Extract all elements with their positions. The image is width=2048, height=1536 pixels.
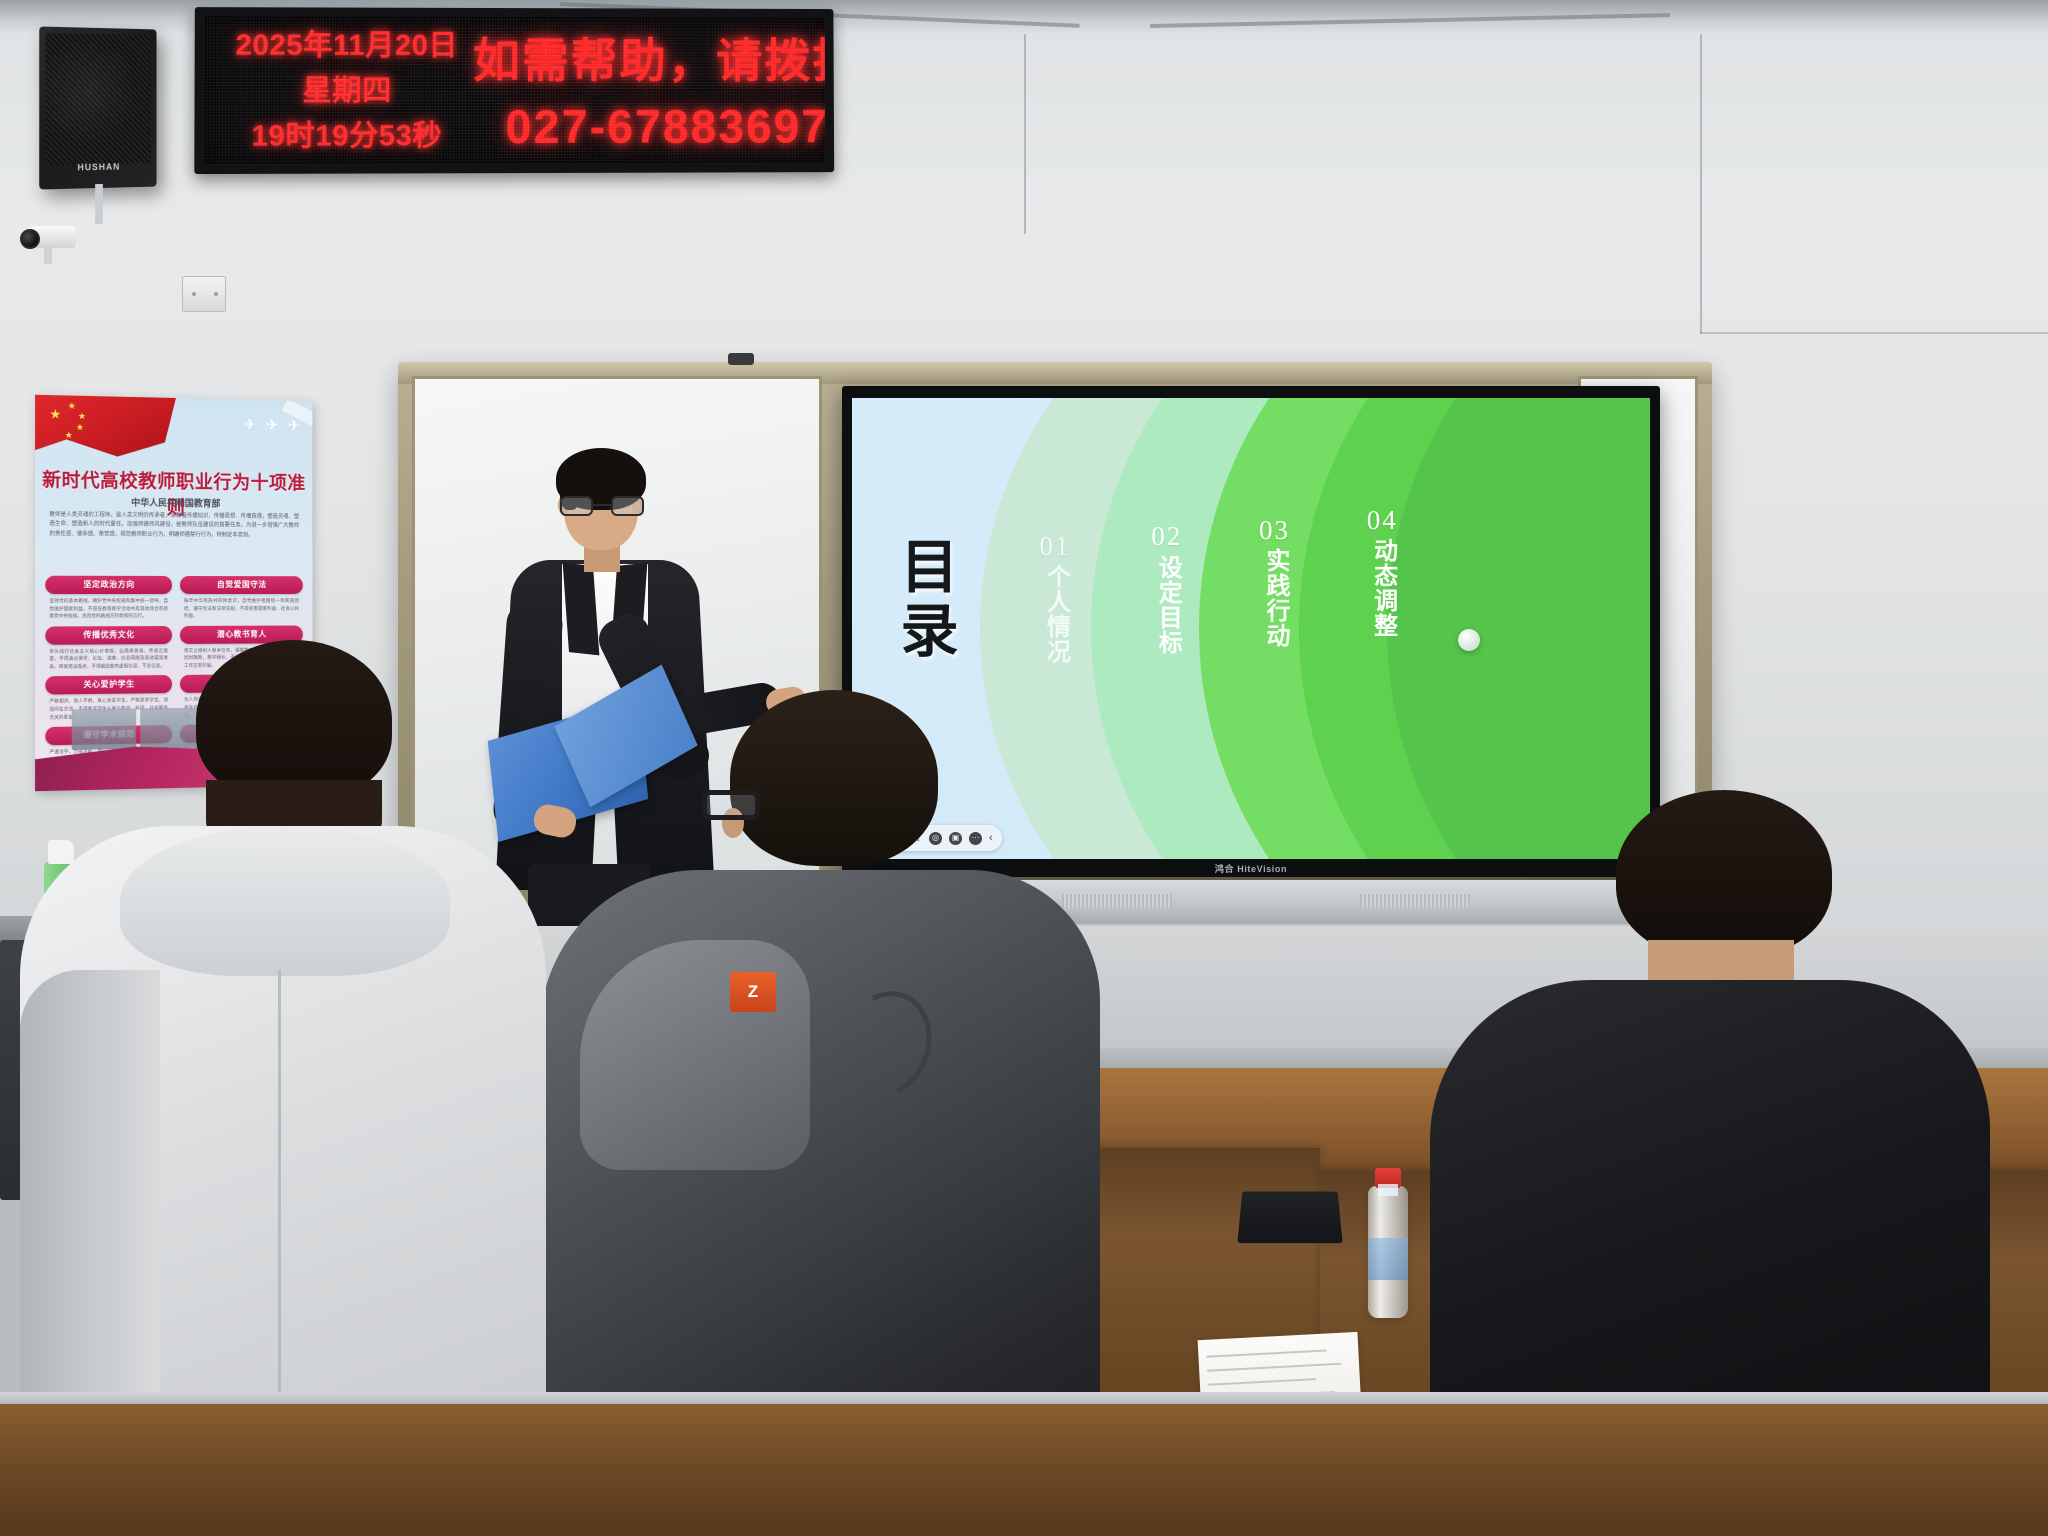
- camera-arm: [44, 246, 52, 264]
- wall-seam: [1700, 34, 1702, 334]
- wall-outlet-plate: [182, 276, 226, 312]
- water-bottle: [1368, 1186, 1408, 1318]
- poster-item-text: 铸牢中华民族共同体意识，自觉维护祖国统一和民族团结，遵守宪法和法律法规，不得损害…: [180, 597, 303, 620]
- poster-item: 坚定政治方向 坚持党的基本路线，拥护党中央权威和集中统一领导，自觉维护国家利益，…: [45, 576, 172, 620]
- toc-entry-1: 01 个人情况: [1040, 532, 1071, 669]
- led-message-line2: 027-67883697: [505, 98, 828, 153]
- toc-number: 03: [1259, 516, 1290, 544]
- frame-sensor: [728, 353, 754, 365]
- glasses-icon: [560, 496, 644, 516]
- camera-lens: [20, 229, 40, 249]
- front-desk: [0, 1404, 2048, 1536]
- speaker-grill: [45, 33, 151, 165]
- bottle-neck: [1378, 1184, 1398, 1196]
- poster-subtitle: 中华人民共和国教育部: [35, 494, 312, 510]
- slide-title: 目录: [895, 536, 952, 664]
- led-datetime-block: 2025年11月20日 星期四 19时19分53秒: [220, 21, 473, 154]
- toc-entry-3: 03 实践行动: [1259, 516, 1290, 653]
- slide-accent-dot: [1458, 629, 1480, 651]
- jacket-badge: Z: [730, 972, 776, 1012]
- toc-number: 04: [1367, 506, 1398, 534]
- wall-seam: [1024, 34, 1026, 234]
- china-flag-icon: ★ ★ ★ ★ ★: [35, 395, 176, 460]
- led-message-line1: 如需帮助，请拨打: [473, 21, 834, 90]
- person-hair: [730, 690, 938, 866]
- led-weekday: 星期四: [302, 66, 392, 108]
- poster-item-heading: 自觉爱国守法: [180, 576, 303, 594]
- security-camera-icon: [18, 222, 80, 262]
- person-hair: [196, 640, 392, 800]
- toc-label: 个人情况: [1043, 564, 1068, 664]
- led-message-block: 如需帮助，请拨打 027-67883697: [473, 21, 834, 153]
- led-information-sign: 2025年11月20日 星期四 19时19分53秒 如需帮助，请拨打 027-6…: [194, 7, 834, 174]
- speaker-brand: HUSHAN: [39, 161, 156, 173]
- led-date: 2025年11月20日: [236, 21, 458, 64]
- toc-entry-4: 04 动态调整: [1367, 506, 1398, 643]
- glasses-icon: [702, 790, 760, 820]
- toc-label: 动态调整: [1370, 538, 1395, 638]
- toc-entry-2: 02 设定目标: [1151, 522, 1182, 659]
- wall-seam: [1700, 332, 2048, 334]
- toc-number: 01: [1040, 532, 1071, 560]
- led-time: 19时19分53秒: [251, 112, 442, 155]
- classroom-scene: HUSHAN 2025年11月20日 星期四 19时19分53秒 如需帮助，请拨…: [0, 0, 2048, 1536]
- bottle-label: [1368, 1238, 1408, 1280]
- tablet-device[interactable]: [1237, 1192, 1342, 1244]
- dove-icons: ✈ ✈ ✈: [244, 415, 303, 434]
- poster-item-text: 坚持党的基本路线，拥护党中央权威和集中统一领导，自觉维护国家利益，不得在教育教学…: [45, 597, 172, 620]
- jacket-hood: [120, 826, 450, 976]
- poster-intro: 教师是人类灵魂的工程师，是人类文明的传承者，承载着传播知识、传播思想、传播真理，…: [49, 511, 299, 541]
- plate-screw: [192, 292, 196, 296]
- speaker-mount: [95, 184, 103, 224]
- plate-screw: [214, 292, 218, 296]
- toc-number: 02: [1151, 522, 1182, 550]
- poster-item-heading: 坚定政治方向: [45, 576, 172, 594]
- poster-item: 自觉爱国守法 铸牢中华民族共同体意识，自觉维护祖国统一和民族团结，遵守宪法和法律…: [180, 576, 303, 620]
- toc-label: 实践行动: [1262, 548, 1287, 648]
- toc-label: 设定目标: [1154, 555, 1179, 655]
- ceiling-speaker: HUSHAN: [39, 26, 156, 189]
- person-hair: [1616, 790, 1832, 958]
